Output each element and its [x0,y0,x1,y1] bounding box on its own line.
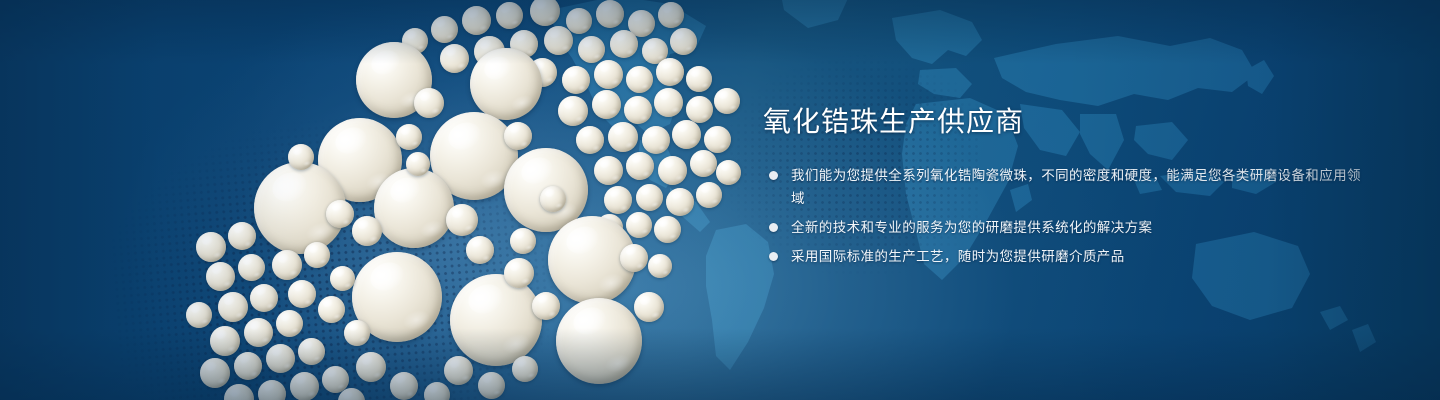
edge-vignette [0,0,1440,400]
hero-banner: 氧化锆珠生产供应商 我们能为您提供全系列氧化锆陶瓷微珠，不同的密度和硬度，能满足… [0,0,1440,400]
